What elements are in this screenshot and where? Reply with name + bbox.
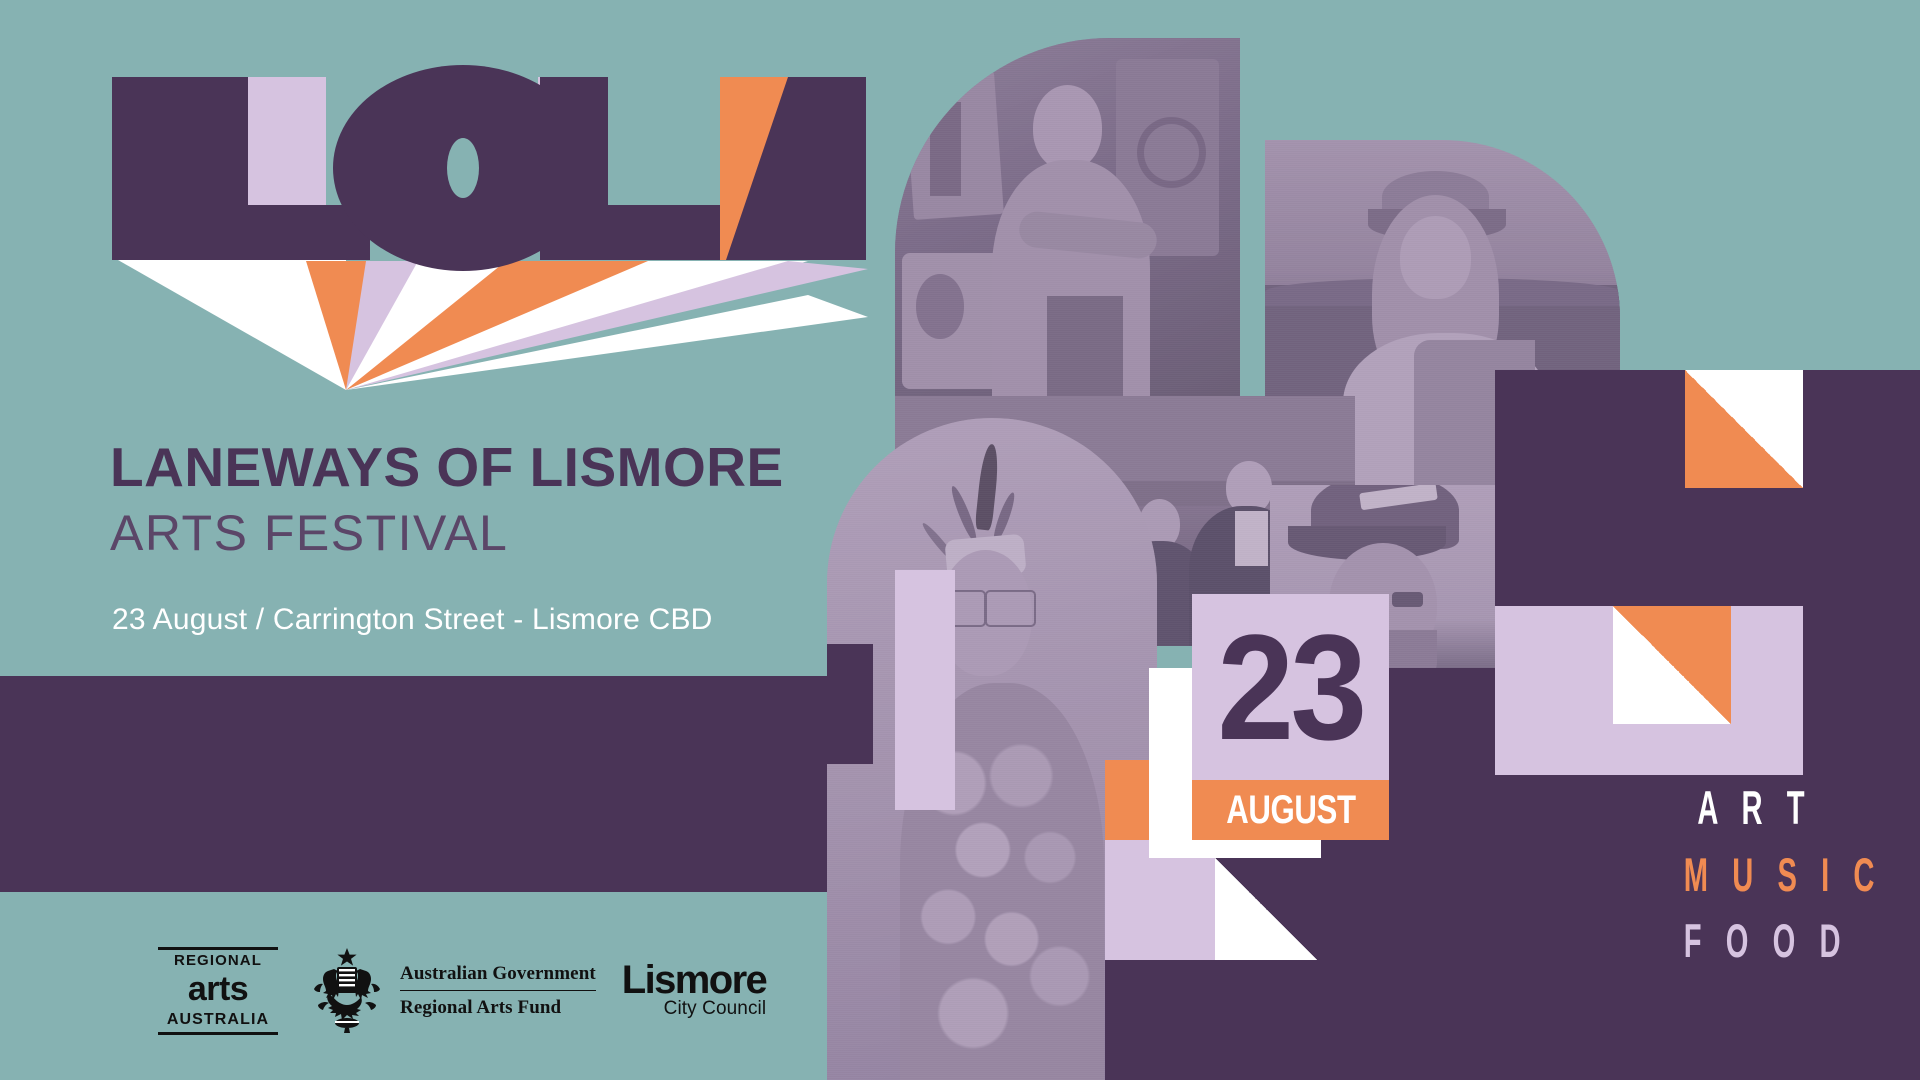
swatch-lilac bbox=[1731, 606, 1803, 724]
swatch-lilac bbox=[1495, 606, 1613, 724]
date-month: AUGUST bbox=[1226, 790, 1355, 830]
lismore-subtitle: City Council bbox=[622, 999, 766, 1020]
poster-canvas: LANEWAYS OF LISMORE ARTS FESTIVAL 23 Aug… bbox=[0, 0, 1920, 1080]
feature-food: F O O D bbox=[1684, 908, 1827, 975]
lola-logo bbox=[108, 55, 868, 415]
poster-left-column: LANEWAYS OF LISMORE ARTS FESTIVAL 23 Aug… bbox=[0, 0, 925, 1080]
feature-music: M U S I C bbox=[1684, 842, 1827, 909]
ra-line-3: AUSTRALIA bbox=[158, 1008, 278, 1032]
swatch-purple bbox=[827, 644, 873, 764]
swatch-purple bbox=[1495, 488, 1803, 606]
coat-of-arms-icon bbox=[304, 945, 390, 1037]
ag-divider bbox=[400, 990, 596, 992]
lismore-city-council-logo: Lismore City Council bbox=[622, 962, 766, 1020]
ag-line-1: Australian Government bbox=[400, 960, 596, 988]
swatch-purple-white-triangle bbox=[1215, 858, 1321, 964]
ra-line-2: arts bbox=[158, 972, 278, 1008]
date-day-box: 23 bbox=[1192, 594, 1389, 780]
acts-band: Acts include: MITCH TAMBO PAUL MCNEIL CO… bbox=[0, 676, 925, 892]
photo-bald-man-graffiti bbox=[895, 38, 1240, 396]
lola-logo-svg bbox=[108, 55, 868, 415]
date-badge: 23 AUGUST bbox=[1192, 594, 1389, 840]
date-day: 23 bbox=[1217, 612, 1363, 762]
swatch-lilac bbox=[895, 570, 955, 810]
festival-title: LANEWAYS OF LISMORE bbox=[110, 440, 784, 495]
swatch-orange bbox=[1105, 760, 1149, 840]
swatch-orange-triangle bbox=[1613, 606, 1731, 724]
regional-arts-australia-logo: REGIONAL arts AUSTRALIA bbox=[158, 947, 278, 1034]
swatch-purple bbox=[1495, 370, 1685, 488]
swatch-lilac bbox=[1149, 858, 1215, 960]
features-list: A R T M U S I C F O O D bbox=[1640, 775, 1870, 975]
festival-date-location: 23 August / Carrington Street - Lismore … bbox=[112, 603, 713, 637]
date-month-box: AUGUST bbox=[1192, 780, 1389, 840]
feature-art: A R T bbox=[1684, 775, 1827, 842]
festival-subtitle: ARTS FESTIVAL bbox=[110, 508, 508, 558]
sponsor-logos: REGIONAL arts AUSTRALIA bbox=[158, 945, 766, 1037]
australian-government-logo: Australian Government Regional Arts Fund bbox=[304, 945, 596, 1037]
lismore-wordmark: Lismore bbox=[622, 962, 766, 999]
ag-line-2: Regional Arts Fund bbox=[400, 994, 596, 1022]
photo-content bbox=[895, 38, 1240, 396]
rule-bottom bbox=[158, 1032, 278, 1035]
australian-government-text: Australian Government Regional Arts Fund bbox=[400, 960, 596, 1022]
swatch-orange-triangle bbox=[1685, 370, 1803, 488]
swatch-lilac bbox=[1105, 840, 1149, 960]
swatch-purple bbox=[1105, 960, 1321, 1080]
